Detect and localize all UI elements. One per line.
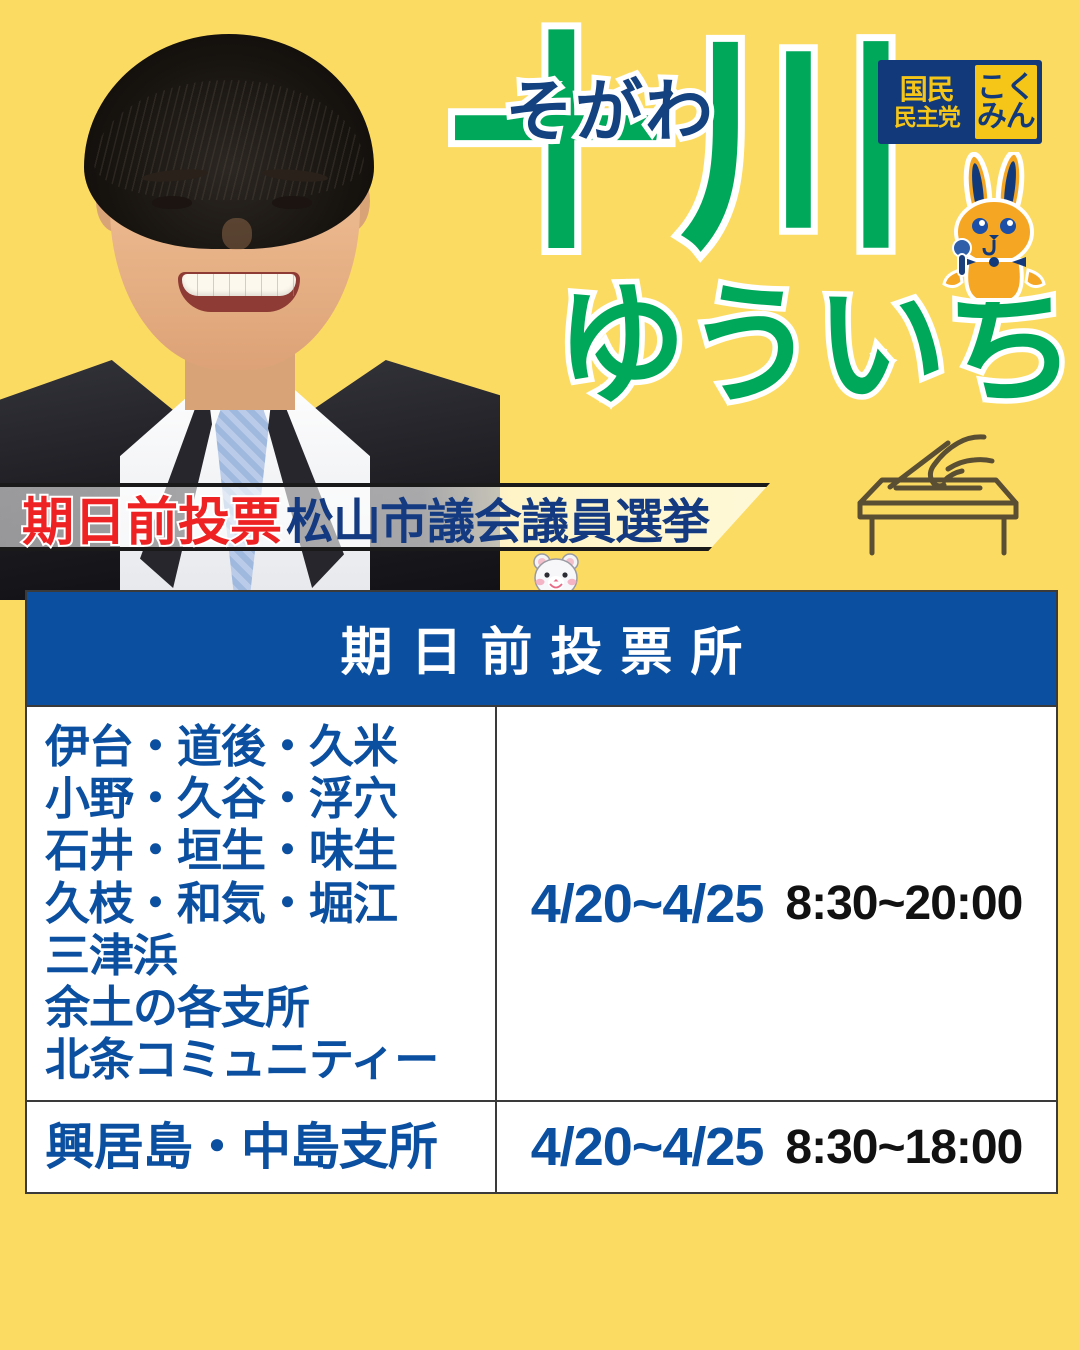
place-line: 興居島・中島支所 <box>45 1118 495 1176</box>
party-logo-nickname: こく みん <box>975 65 1037 139</box>
place-line: 北条コミュニティー <box>45 1034 495 1086</box>
place-line: 久枝・和気・堀江 <box>45 878 495 930</box>
table-row: 興居島・中島支所 4/20~4/25 8:30~18:00 <box>27 1100 1056 1192</box>
table-header: 期日前投票所 <box>27 592 1056 705</box>
candidate-furigana: そがわ <box>505 56 715 155</box>
eye-right <box>272 196 312 209</box>
rabbit-mascot-icon <box>938 152 1056 307</box>
place-line: 三津浜 <box>45 930 495 982</box>
table-cell-schedule: 4/20~4/25 8:30~20:00 <box>497 707 1056 1100</box>
schedule-date: 4/20~4/25 <box>531 873 764 935</box>
banner-highlight-text: 期日前投票 <box>22 480 282 555</box>
early-voting-locations-table: 期日前投票所 伊台・道後・久米 小野・久谷・浮穴 石井・垣生・味生 久枝・和気・… <box>25 590 1058 1194</box>
place-line: 余土の各支所 <box>45 982 495 1034</box>
party-logo: 国民 民主党 こく みん <box>878 60 1042 144</box>
banner-election-name: 松山市議会議員選挙 <box>286 482 709 552</box>
table-cell-schedule: 4/20~4/25 8:30~18:00 <box>497 1102 1056 1192</box>
eye-left <box>152 196 192 209</box>
table-row: 伊台・道後・久米 小野・久谷・浮穴 石井・垣生・味生 久枝・和気・堀江 三津浜 … <box>27 705 1056 1100</box>
place-line: 伊台・道後・久米 <box>45 721 495 773</box>
schedule-time: 8:30~18:00 <box>785 1120 1022 1175</box>
schedule-time: 8:30~20:00 <box>785 876 1022 931</box>
ballot-box-hand-icon <box>848 425 1028 560</box>
place-line: 小野・久谷・浮穴 <box>45 773 495 825</box>
nose <box>222 218 252 250</box>
party-logo-line2: 民主党 <box>894 106 960 129</box>
place-line: 石井・垣生・味生 <box>45 825 495 877</box>
smiling-mouth <box>178 272 300 312</box>
teeth <box>182 274 296 296</box>
table-cell-places: 興居島・中島支所 <box>27 1102 497 1192</box>
party-logo-name: 国民 民主党 <box>881 63 973 141</box>
table-cell-places: 伊台・道後・久米 小野・久谷・浮穴 石井・垣生・味生 久枝・和気・堀江 三津浜 … <box>27 707 497 1100</box>
schedule-date: 4/20~4/25 <box>531 1116 764 1178</box>
party-logo-line1: 国民 <box>900 76 954 104</box>
early-voting-banner: 期日前投票 松山市議会議員選挙 <box>0 483 770 551</box>
party-logo-nickname-line2: みん <box>977 102 1035 131</box>
party-logo-nickname-line1: こく <box>977 73 1035 102</box>
